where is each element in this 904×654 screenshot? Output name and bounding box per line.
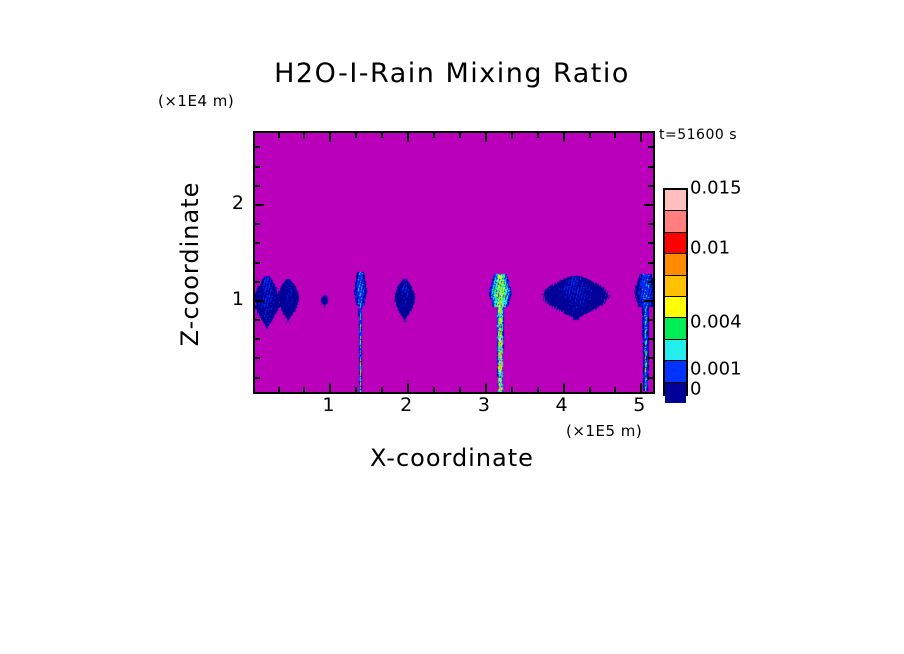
tick-mark xyxy=(303,133,305,138)
tick-mark xyxy=(255,242,260,244)
y-axis-title: Z-coordinate xyxy=(176,64,204,464)
tick-mark xyxy=(563,383,565,392)
tick-mark xyxy=(640,133,642,142)
plot-area xyxy=(253,131,655,394)
y-tick-label: 1 xyxy=(214,288,244,310)
page-title: H2O-I-Rain Mixing Ratio xyxy=(0,58,904,89)
tick-mark xyxy=(255,204,264,206)
colorbar-band xyxy=(665,361,686,382)
colorbar-label: 0.001 xyxy=(690,358,742,379)
tick-mark xyxy=(563,133,565,142)
x-tick-label: 2 xyxy=(400,394,412,416)
tick-mark xyxy=(255,377,260,379)
x-tick-label: 3 xyxy=(478,394,490,416)
tick-mark xyxy=(433,133,435,138)
tick-mark xyxy=(255,338,260,340)
tick-mark xyxy=(278,133,280,138)
tick-mark xyxy=(485,383,487,392)
tick-mark xyxy=(355,387,357,392)
tick-mark xyxy=(255,185,260,187)
tick-mark xyxy=(433,387,435,392)
tick-mark xyxy=(407,383,409,392)
colorbar-band xyxy=(665,276,686,297)
colorbar-band xyxy=(665,297,686,318)
colorbar-band xyxy=(665,190,686,211)
tick-mark xyxy=(407,133,409,142)
colorbar-band xyxy=(665,318,686,339)
tick-mark xyxy=(355,133,357,138)
tick-mark xyxy=(648,242,653,244)
tick-mark xyxy=(640,383,642,392)
tick-mark xyxy=(329,133,331,142)
colorbar-band xyxy=(665,211,686,232)
time-annotation: t=51600 s xyxy=(659,127,737,143)
tick-mark xyxy=(485,133,487,142)
tick-mark xyxy=(648,223,653,225)
tick-mark xyxy=(644,204,653,206)
tick-mark xyxy=(648,357,653,359)
colorbar-label: 0 xyxy=(690,378,701,399)
tick-mark xyxy=(648,185,653,187)
tick-mark xyxy=(255,146,260,148)
colorbar-band xyxy=(665,340,686,361)
tick-mark xyxy=(459,387,461,392)
tick-mark xyxy=(537,387,539,392)
colorbar-band xyxy=(665,233,686,254)
colorbar-label: 0.01 xyxy=(690,238,730,259)
tick-mark xyxy=(511,387,513,392)
tick-mark xyxy=(381,387,383,392)
tick-mark xyxy=(589,387,591,392)
tick-mark xyxy=(648,281,653,283)
tick-mark xyxy=(255,300,264,302)
figure-canvas: H2O-I-Rain Mixing Ratio (×1E4 m) Z-coord… xyxy=(0,0,904,654)
tick-mark xyxy=(255,262,260,264)
tick-mark xyxy=(459,133,461,138)
tick-mark xyxy=(648,319,653,321)
tick-mark xyxy=(381,133,383,138)
x-axis-title: X-coordinate xyxy=(253,444,651,472)
tick-mark xyxy=(329,383,331,392)
tick-mark xyxy=(255,357,260,359)
colorbar-band xyxy=(665,383,686,403)
y-tick-label: 2 xyxy=(214,192,244,214)
tick-mark xyxy=(255,223,260,225)
x-tick-label: 5 xyxy=(633,394,645,416)
tick-mark xyxy=(614,387,616,392)
contour-field xyxy=(255,133,653,392)
tick-mark xyxy=(648,166,653,168)
x-tick-label: 1 xyxy=(322,394,334,416)
colorbar-label: 0.004 xyxy=(690,311,742,332)
tick-mark xyxy=(303,387,305,392)
colorbar-label: 0.015 xyxy=(690,178,742,199)
colorbar xyxy=(663,188,688,396)
tick-mark xyxy=(255,319,260,321)
tick-mark xyxy=(644,300,653,302)
tick-mark xyxy=(589,133,591,138)
colorbar-band xyxy=(665,254,686,275)
tick-mark xyxy=(511,133,513,138)
x-tick-label: 4 xyxy=(556,394,568,416)
tick-mark xyxy=(614,133,616,138)
tick-mark xyxy=(648,146,653,148)
x-axis-unit-label: (×1E5 m) xyxy=(566,422,642,440)
tick-mark xyxy=(255,281,260,283)
tick-mark xyxy=(648,377,653,379)
tick-mark xyxy=(537,133,539,138)
tick-mark xyxy=(648,262,653,264)
tick-mark xyxy=(278,387,280,392)
tick-mark xyxy=(648,338,653,340)
tick-mark xyxy=(255,166,260,168)
